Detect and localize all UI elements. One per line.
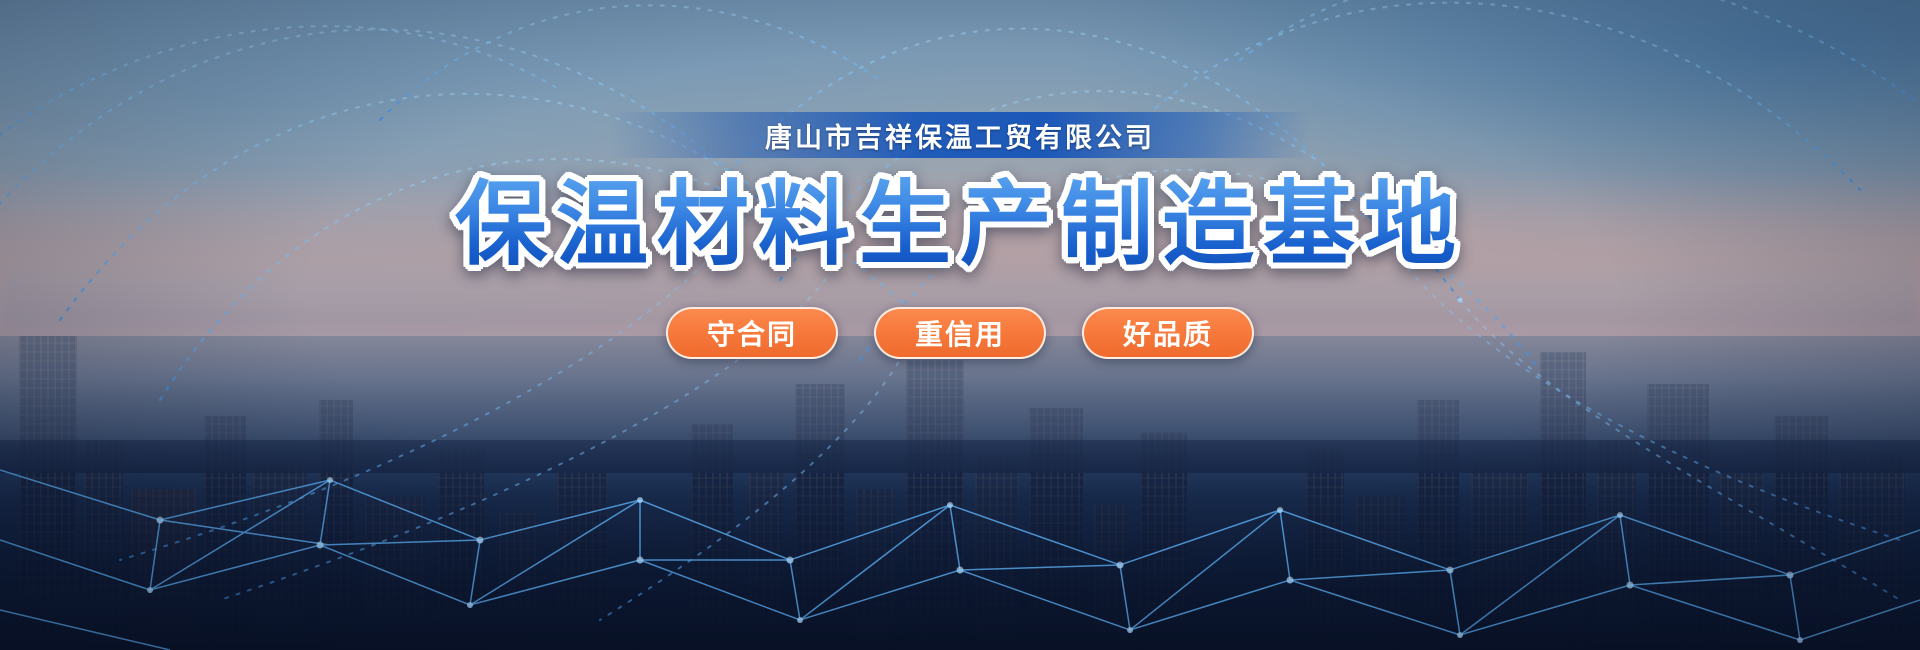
company-name: 唐山市吉祥保温工贸有限公司 bbox=[765, 116, 1155, 155]
page-title: 保温材料生产制造基地 bbox=[455, 174, 1465, 277]
banner-content: 唐山市吉祥保温工贸有限公司 保温材料生产制造基地 守合同 重信用 好品质 bbox=[0, 0, 1920, 650]
hero-banner: 唐山市吉祥保温工贸有限公司 保温材料生产制造基地 守合同 重信用 好品质 bbox=[0, 0, 1920, 650]
tagline-label: 重信用 bbox=[915, 313, 1005, 353]
tagline-pill-contract[interactable]: 守合同 bbox=[666, 307, 838, 359]
tagline-label: 守合同 bbox=[707, 313, 797, 353]
tagline-pill-quality[interactable]: 好品质 bbox=[1082, 307, 1254, 359]
tagline-row: 守合同 重信用 好品质 bbox=[666, 307, 1254, 359]
tagline-pill-credit[interactable]: 重信用 bbox=[874, 307, 1046, 359]
company-name-bar: 唐山市吉祥保温工贸有限公司 bbox=[610, 112, 1310, 158]
tagline-label: 好品质 bbox=[1123, 313, 1213, 353]
